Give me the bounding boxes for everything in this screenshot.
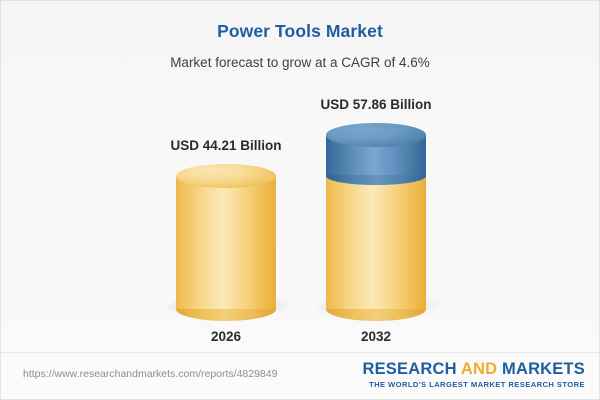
- bar-group-2026: USD 44.21 Billion: [176, 164, 276, 309]
- logo-text-markets: MARKETS: [497, 360, 585, 378]
- cylinder-body-yellow: [176, 176, 276, 309]
- axis-tick-2026: 2026: [176, 329, 276, 344]
- bar-value-label-2032: USD 57.86 Billion: [320, 97, 431, 112]
- brand-logo[interactable]: RESEARCH AND MARKETS THE WORLD'S LARGEST…: [362, 360, 585, 389]
- infographic-card: Power Tools Market Market forecast to gr…: [0, 0, 600, 400]
- logo-tagline: THE WORLD'S LARGEST MARKET RESEARCH STOR…: [362, 380, 585, 389]
- footer-bar: https://www.researchandmarkets.com/repor…: [1, 352, 600, 399]
- axis-tick-2032: 2032: [326, 329, 426, 344]
- bar-value-label-2026: USD 44.21 Billion: [170, 138, 281, 153]
- report-url[interactable]: https://www.researchandmarkets.com/repor…: [23, 368, 277, 380]
- cylinder-top-cap: [176, 164, 276, 188]
- bar-group-2032: USD 57.86 Billion: [326, 123, 426, 309]
- cylinder-2032[interactable]: [326, 123, 426, 309]
- logo-text-and: AND: [461, 360, 497, 378]
- cylinder-body-yellow: [326, 176, 426, 309]
- chart-plot-area: USD 44.21 Billion USD 57.86 Billion 2026: [1, 1, 600, 353]
- logo-wordmark: RESEARCH AND MARKETS: [362, 360, 585, 378]
- cylinder-top-cap: [326, 123, 426, 147]
- cylinder-2026[interactable]: [176, 164, 276, 309]
- logo-text-research: RESEARCH: [362, 360, 460, 378]
